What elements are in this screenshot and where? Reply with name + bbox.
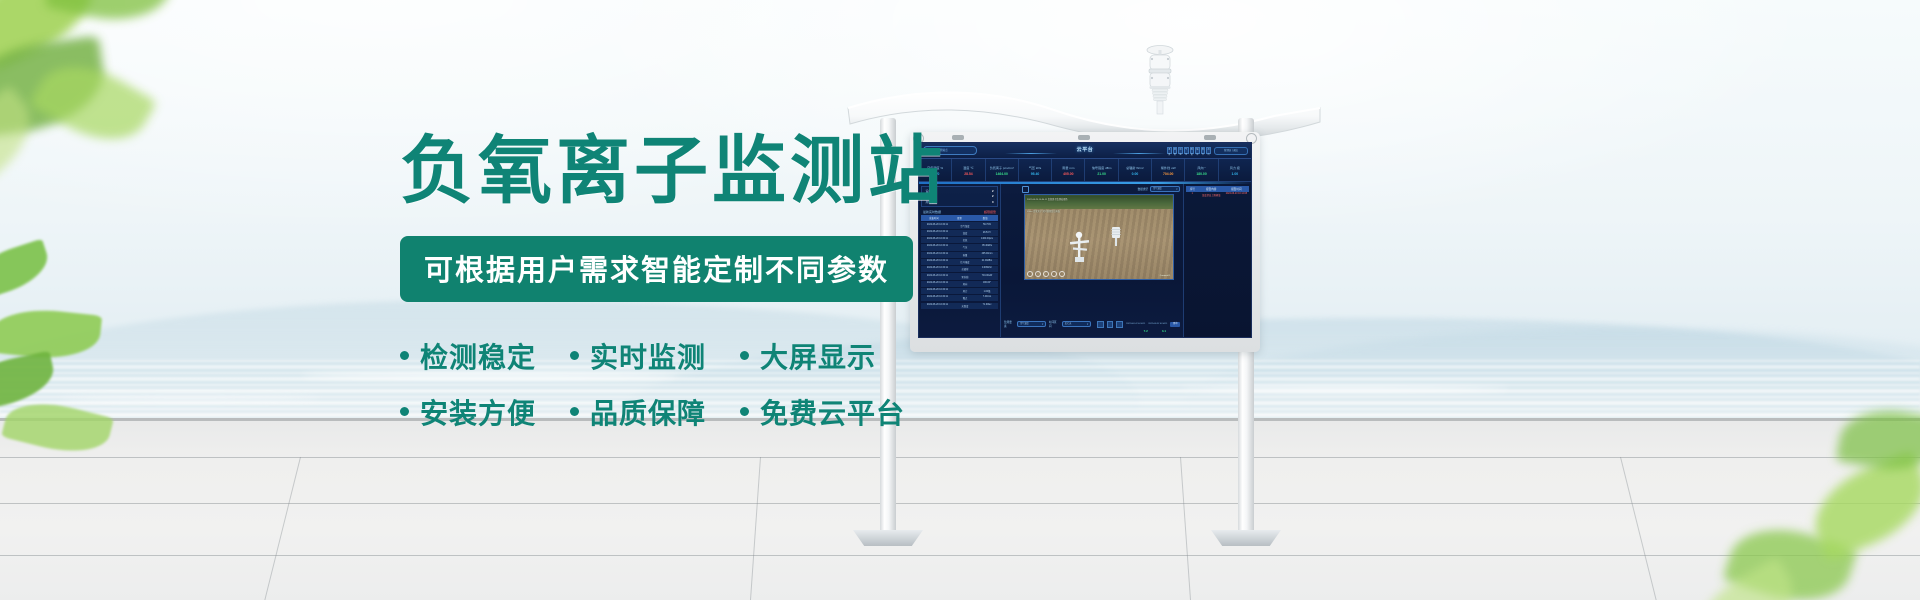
parameter-value: 1.00	[1219, 172, 1251, 176]
weather-chip: 辐射	[1195, 147, 1200, 154]
table-alert-label: 超限报警	[984, 210, 996, 214]
parameter-label: 气压 kPa	[1019, 165, 1051, 170]
parameter-label: 风向 °	[1185, 165, 1217, 170]
subtitle-badge: 可根据用户需求智能定制不同参数	[400, 236, 913, 302]
alarm-column-header: 报警时间	[1224, 186, 1249, 192]
alarm-column-header: 序号	[1186, 186, 1199, 192]
page-title: 负氧离子监测站	[400, 132, 960, 210]
table-cell: 71.00lux	[976, 303, 998, 309]
feature-label: 大屏显示	[760, 336, 876, 376]
video-timestamp: 2022-06-20 10:34:11 负氧离子监测站现场	[1027, 197, 1067, 201]
weather-chip: 风速	[1178, 147, 1183, 154]
display-housing: 负氧离子监测站点 云平台 温度湿度风速气压雨量辐射紫外风向 管理员 | 退出 空…	[910, 132, 1260, 352]
alarm-column-header: 报警内容	[1199, 186, 1224, 192]
range-start: 2022-06-14 10:34:11	[1126, 323, 1145, 325]
alarm-cell: 2022-06-20 10:12:08	[1224, 193, 1249, 197]
chart-line-icon[interactable]	[1097, 321, 1104, 328]
weather-chip: 紫外	[1201, 147, 1206, 154]
feature-item: 实时监测	[570, 336, 706, 376]
video-camera-label: Camera01	[1160, 275, 1170, 277]
weather-icons-panel: 温度湿度风速气压雨量辐射紫外风向	[1167, 145, 1211, 156]
table-cell: 1.00级	[976, 288, 998, 294]
ground-joint-2	[750, 457, 761, 600]
ground-joint-1	[264, 457, 301, 600]
query-button[interactable]: 查询	[1170, 322, 1180, 327]
parameter-label: 信号强度 dBm	[1085, 165, 1117, 170]
mount-bracket-3	[1204, 135, 1216, 140]
feature-label: 实时监测	[590, 336, 706, 376]
data-type-select[interactable]: 空气湿度	[1150, 186, 1180, 192]
parameter-label: 雨量 mm	[1052, 165, 1084, 170]
parameter-label: 总辐射 W/m²	[1119, 165, 1151, 170]
time-range-label: 时间区间	[1049, 320, 1059, 328]
feature-label: 免费云平台	[760, 392, 905, 432]
chart-table-icon[interactable]	[1116, 321, 1123, 328]
parameter-value: 180.00	[1185, 172, 1217, 176]
feature-item: 大屏显示	[740, 336, 876, 376]
device-stat-value: 2	[992, 189, 994, 193]
center-panel: 数据类型 空气湿度	[1001, 184, 1183, 338]
weather-chip: 雨量	[1190, 147, 1195, 154]
chart-controls-row: 监测要素 空气湿度 时间区间 近七天 2022-06-14 10:34:11 2…	[1004, 321, 1180, 328]
parameter-value: 1464.00	[986, 172, 1018, 176]
feature-item: 安装方便	[400, 392, 536, 432]
feature-label: 安装方便	[420, 392, 536, 432]
weather-chip: 湿度	[1173, 147, 1178, 154]
table-cell: 7.40mm	[976, 295, 998, 301]
table-cell: 405.00mm	[976, 252, 998, 258]
mount-bracket-2	[1078, 135, 1090, 140]
chart-bar-icon[interactable]	[1107, 321, 1114, 328]
header-deco-right	[1113, 153, 1165, 154]
element-label: 监测要素	[1004, 320, 1014, 328]
ground-joint-4	[1620, 457, 1657, 600]
table-cell: 704.00uW	[976, 273, 998, 279]
video-shelter-object	[1109, 225, 1123, 247]
alarm-table-header: 序号报警内容报警时间	[1186, 186, 1249, 192]
subtitle-wrap: 可根据用户需求智能定制不同参数	[400, 236, 960, 336]
table-cell: 56.70%	[976, 222, 998, 228]
dashboard-header: 负氧离子监测站点 云平台 温度湿度风速气压雨量辐射紫外风向 管理员 | 退出	[919, 143, 1251, 159]
user-menu[interactable]: 管理员 | 退出	[1214, 147, 1248, 155]
parameter-value: 21.00	[1085, 172, 1117, 176]
video-feed[interactable]: 2022-06-20 10:34:11 负氧离子监测站现场 300m 负氧离子 …	[1024, 194, 1174, 280]
parameter-value: 0.00	[1119, 172, 1151, 176]
parameter-cell: 紫外线 uW704.00	[1152, 159, 1185, 181]
element-select[interactable]: 空气湿度	[1017, 321, 1046, 327]
water-streak-3	[60, 396, 320, 401]
feature-item: 检测稳定	[400, 336, 536, 376]
table-cell: 95.40kPa	[976, 244, 998, 250]
time-range-select[interactable]: 近七天	[1062, 321, 1091, 327]
table-cell: 0.00W/m²	[976, 266, 998, 272]
stat-value-a: 7.2	[1144, 329, 1148, 333]
parameter-label: 紫外线 uW	[1152, 165, 1184, 170]
cube-icon[interactable]	[1022, 186, 1029, 193]
bullet-dot-icon	[740, 407, 749, 416]
parameter-strip: 空气湿度 %56.70温度 ℃28.54负氧离子 pcs/cm³1464.00气…	[919, 159, 1251, 182]
feature-row: 安装方便品质保障免费云平台	[400, 392, 960, 432]
feature-item: 免费云平台	[740, 392, 905, 432]
device-stat-value: 2	[992, 194, 994, 198]
weather-chip: 气压	[1184, 147, 1189, 154]
parameter-cell: 总辐射 W/m²0.00	[1119, 159, 1152, 181]
parameter-label: 负氧离子 pcs/cm³	[986, 165, 1018, 170]
hero-banner: 负氧离子监测站点 云平台 温度湿度风速气压雨量辐射紫外风向 管理员 | 退出 空…	[0, 0, 1920, 600]
table-column-header: 数值	[972, 215, 998, 221]
weather-chip: 温度	[1167, 147, 1172, 154]
range-end: 2022-06-20 10:34:11	[1148, 323, 1167, 325]
bullet-dot-icon	[740, 351, 749, 360]
base-plate-left	[853, 530, 923, 546]
parameter-cell: 风力 级1.00	[1219, 159, 1251, 181]
parameter-cell: 气压 kPa95.40	[1019, 159, 1052, 181]
chart-stats-row: 7.2 3.1	[1004, 328, 1180, 335]
video-field	[1025, 209, 1173, 279]
hero-copy: 负氧离子监测站 可根据用户需求智能定制不同参数 检测稳定实时监测大屏显示安装方便…	[400, 132, 960, 432]
snapshot-icon[interactable]	[1035, 271, 1041, 277]
table-cell: 1464.00pcs	[976, 237, 998, 243]
data-type-label: 数据类型	[1138, 187, 1148, 191]
parameter-cell: 信号强度 dBm21.00	[1085, 159, 1118, 181]
bullet-dot-icon	[400, 351, 409, 360]
stat-value-b: 3.1	[1162, 329, 1166, 333]
alarm-panel: 序号报警内容报警时间 1温度超出上限阈值2022-06-20 10:12:08	[1183, 184, 1251, 338]
feature-item: 品质保障	[570, 392, 706, 432]
header-deco-left	[1005, 153, 1057, 154]
video-controls[interactable]	[1027, 271, 1065, 277]
alarm-row[interactable]: 1温度超出上限阈值2022-06-20 10:12:08	[1186, 193, 1249, 197]
bullet-dot-icon	[570, 407, 579, 416]
play-icon[interactable]	[1027, 271, 1033, 277]
chart-controls: 监测要素 空气湿度 时间区间 近七天 2022-06-14 10:34:11 2…	[1004, 321, 1180, 335]
weather-chip: 风向	[1206, 147, 1211, 154]
volume-icon[interactable]	[1051, 271, 1057, 277]
alarm-cell: 1	[1186, 193, 1199, 197]
center-toolbar: 数据类型 空气湿度	[1004, 186, 1180, 193]
feature-label: 品质保障	[590, 392, 706, 432]
alarm-table-body: 1温度超出上限阈值2022-06-20 10:12:08	[1186, 193, 1249, 197]
video-station-object	[1069, 229, 1091, 263]
alarm-cell: 温度超出上限阈值	[1199, 193, 1224, 197]
dashboard-screen[interactable]: 负氧离子监测站点 云平台 温度湿度风速气压雨量辐射紫外风向 管理员 | 退出 空…	[918, 142, 1252, 338]
fullscreen-icon[interactable]	[1059, 271, 1065, 277]
parameter-cell: 负氧离子 pcs/cm³1464.00	[986, 159, 1019, 181]
video-overlay-text: 300m 负氧离子 实时视频监控画面	[1027, 209, 1060, 213]
parameter-label: 风力 级	[1219, 165, 1251, 170]
feature-label: 检测稳定	[420, 336, 536, 376]
parameter-cell: 雨量 mm405.00	[1052, 159, 1085, 181]
bullet-dot-icon	[400, 407, 409, 416]
table-cell: 28.54℃	[976, 230, 998, 236]
base-plate-right	[1211, 530, 1281, 546]
parameter-value: 405.00	[1052, 172, 1084, 176]
table-cell: 180.00°	[976, 281, 998, 287]
bullet-dot-icon	[570, 351, 579, 360]
dashboard-body: 设备数2在线设备2离线设备0 最新实时数据 超限报警 采集时间要素数值 2022…	[919, 184, 1251, 338]
record-icon[interactable]	[1043, 271, 1049, 277]
parameter-value: 95.40	[1019, 172, 1051, 176]
feature-row: 检测稳定实时监测大屏显示	[400, 336, 960, 376]
feature-list: 检测稳定实时监测大屏显示安装方便品质保障免费云平台	[400, 336, 960, 432]
parameter-value: 704.00	[1152, 172, 1184, 176]
parameter-cell: 风向 °180.00	[1185, 159, 1218, 181]
table-cell: 21.00dBm	[976, 259, 998, 265]
device-stat-value: 0	[992, 200, 994, 204]
